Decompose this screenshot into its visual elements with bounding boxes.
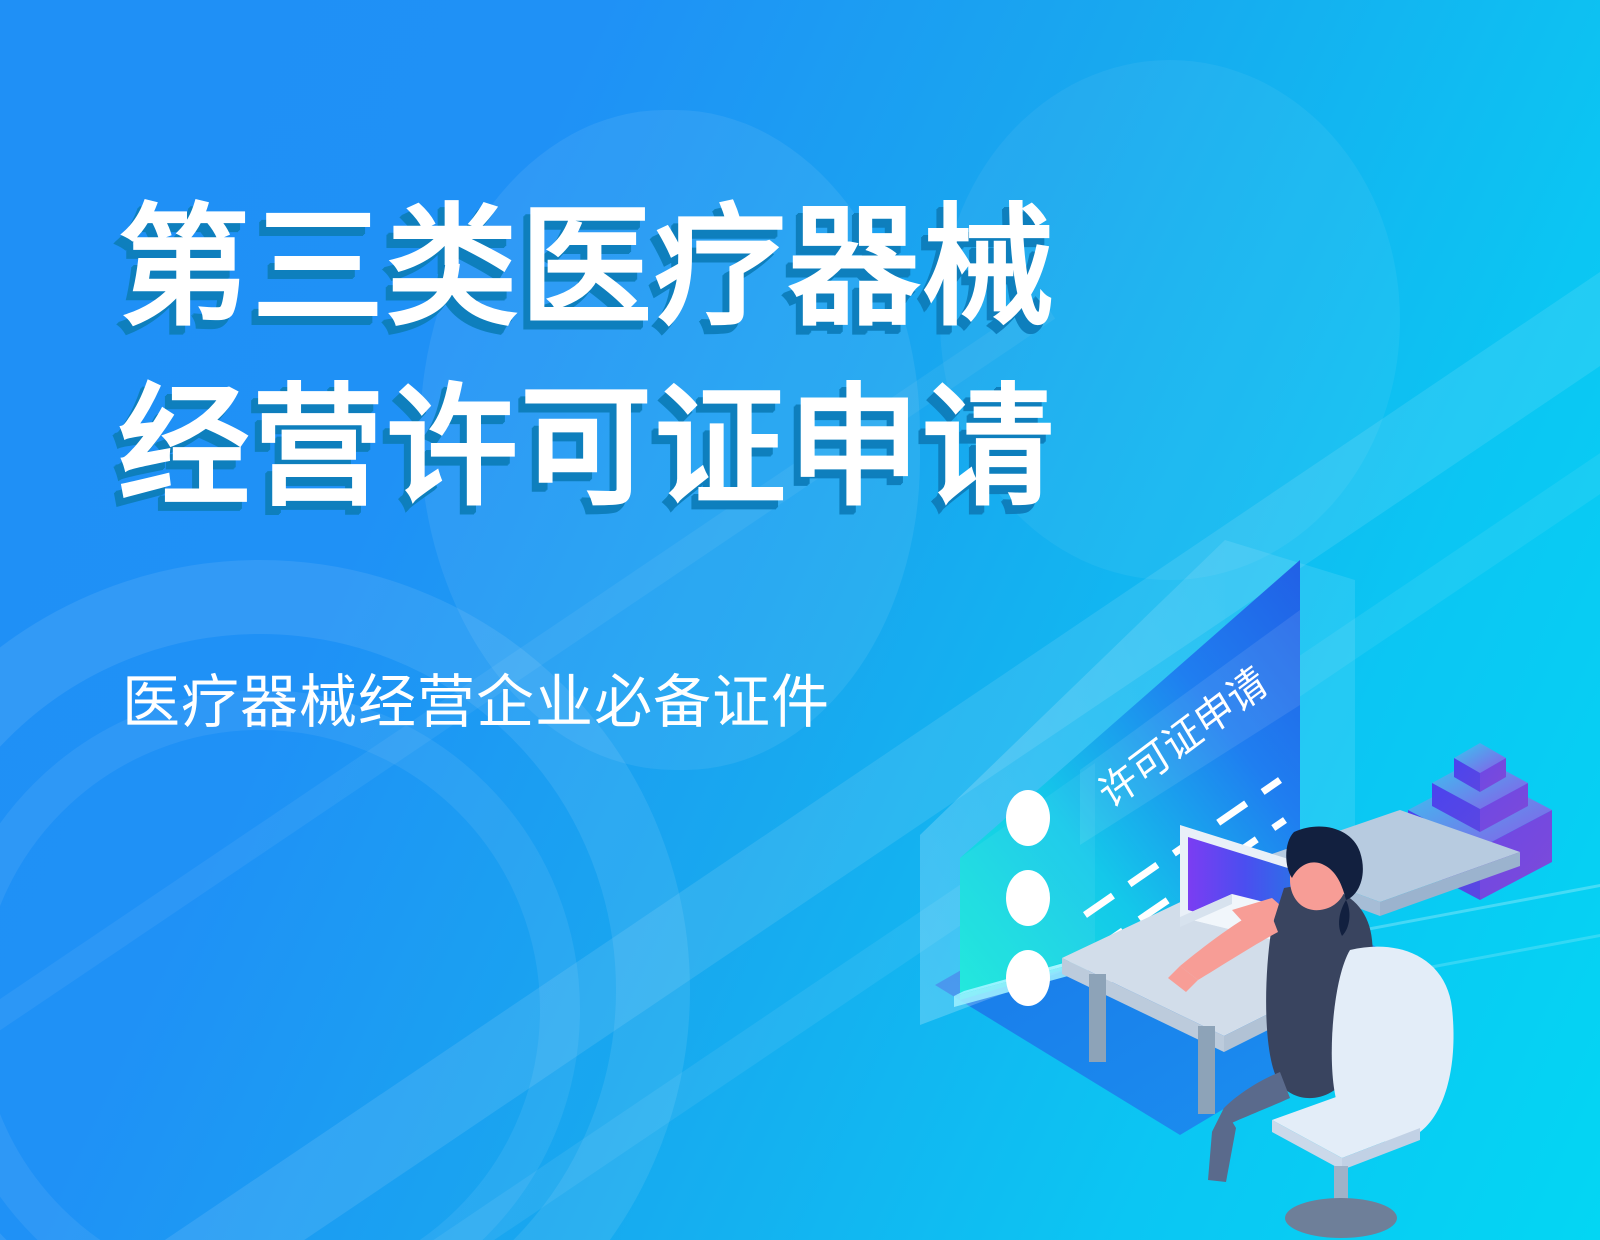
background-ring-inner	[0, 690, 580, 1240]
hero-illustration: 许可证申请	[880, 480, 1600, 1240]
background-ring-outer	[0, 560, 690, 1240]
page-subtitle: 医疗器械经营企业必备证件	[122, 668, 830, 738]
page-title: 第三类医疗器械 经营许可证申请	[118, 178, 1056, 537]
headline-line-1: 第三类医疗器械	[118, 178, 1056, 358]
poster-canvas: 第三类医疗器械 经营许可证申请 医疗器械经营企业必备证件	[0, 0, 1600, 1240]
panel-bullet-dots	[1006, 790, 1050, 1006]
headline-line-2: 经营许可证申请	[118, 358, 1056, 538]
illustration-svg: 许可证申请	[880, 480, 1600, 1240]
